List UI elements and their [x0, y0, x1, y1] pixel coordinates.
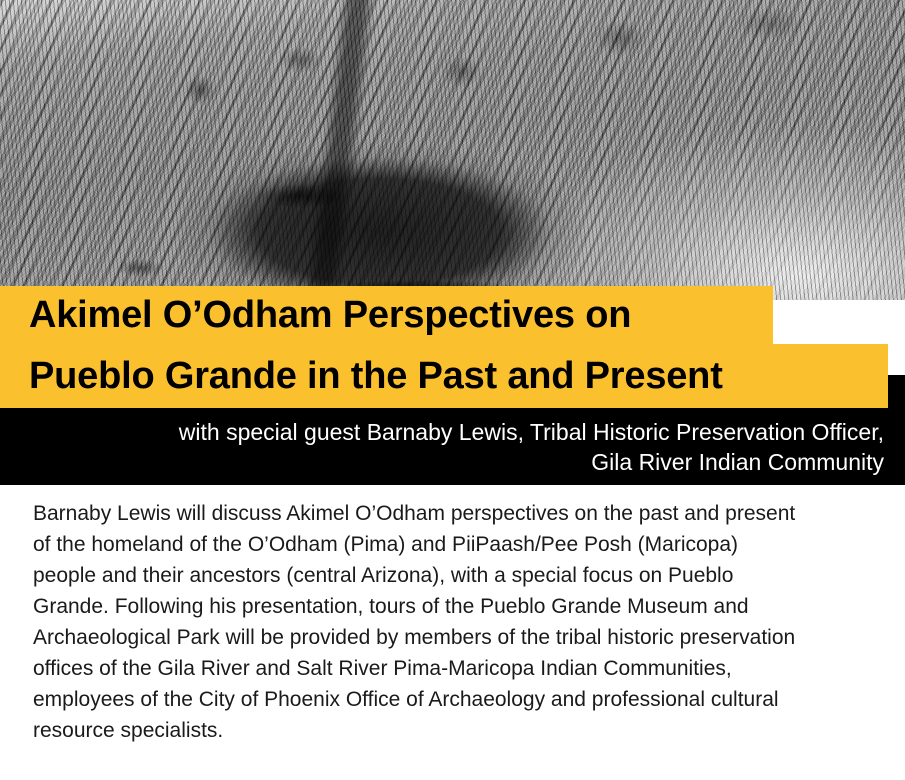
aerial-field-photo-image — [0, 0, 905, 300]
event-poster: Akimel O’Odham Perspectives on Pueblo Gr… — [0, 0, 905, 780]
title-band-second-line: Pueblo Grande in the Past and Present — [0, 344, 888, 408]
description-line: resource specialists. — [33, 715, 878, 746]
description-line: Archaeological Park will be provided by … — [33, 622, 878, 653]
subtitle-line-2: Gila River Indian Community — [591, 447, 884, 477]
subtitle-band: with special guest Barnaby Lewis, Tribal… — [0, 408, 905, 485]
poster-title-line-2: Pueblo Grande in the Past and Present — [0, 357, 723, 395]
subtitle-line-1: with special guest Barnaby Lewis, Tribal… — [179, 417, 884, 447]
title-band-first-line: Akimel O’Odham Perspectives on — [0, 286, 773, 344]
description-line: of the homeland of the O’Odham (Pima) an… — [33, 529, 878, 560]
hero-photograph — [0, 0, 905, 300]
title-band-corner-block — [888, 375, 905, 408]
description-line: offices of the Gila River and Salt River… — [33, 653, 878, 684]
description-line: Barnaby Lewis will discuss Akimel O’Odha… — [33, 498, 878, 529]
poster-title-line-1: Akimel O’Odham Perspectives on — [0, 296, 631, 334]
description-line: Grande. Following his presentation, tour… — [33, 591, 878, 622]
description-paragraph: Barnaby Lewis will discuss Akimel O’Odha… — [33, 498, 878, 746]
description-line: employees of the City of Phoenix Office … — [33, 684, 878, 715]
description-line: people and their ancestors (central Ariz… — [33, 560, 878, 591]
